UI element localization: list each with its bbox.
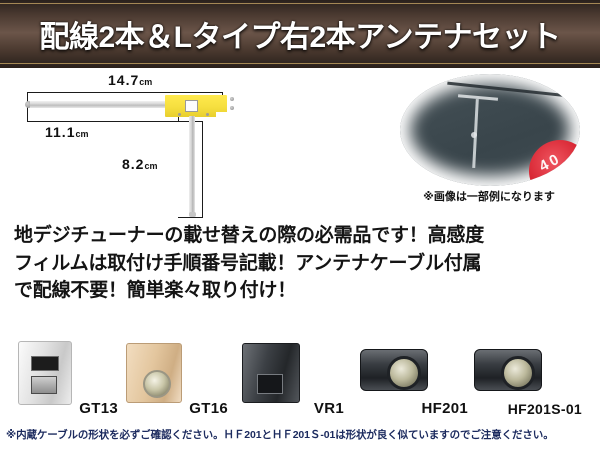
connector-photo-vr1 xyxy=(232,333,306,409)
connector-photo-hf201 xyxy=(356,333,430,409)
connector-port-lower xyxy=(31,376,57,394)
connector-photo-gt16 xyxy=(116,333,190,409)
film-pad-notch xyxy=(216,112,227,119)
connector-photo-gt13 xyxy=(6,333,80,409)
photo-caption: ※画像は一部例になります xyxy=(378,188,600,204)
dimension-unit-inner-width: cm xyxy=(75,129,88,139)
dimension-unit-height: cm xyxy=(144,161,157,171)
connector-photo-hf201s01 xyxy=(470,333,544,409)
connector-item-hf201s01: HF201S-01 xyxy=(466,333,584,421)
film-pad-pin-icon xyxy=(230,106,234,110)
description-line-3: で配線不要！簡単楽々取り付け！ xyxy=(14,277,590,305)
connector-body-gray xyxy=(18,341,72,405)
installation-photo: 40 ※画像は一部例になります xyxy=(378,68,600,218)
connector-label-vr1: VR1 xyxy=(314,400,344,417)
connector-body-tan xyxy=(126,343,182,403)
film-pad-dot-icon xyxy=(178,113,181,116)
connector-port-square xyxy=(257,374,283,394)
connector-item-gt16: GT16 xyxy=(112,333,230,421)
film-pad-pin-icon xyxy=(230,97,234,101)
header-title: 配線2本＆Lタイプ右2本アンテナセット xyxy=(0,12,600,56)
inspection-sticker-text: 40 xyxy=(536,149,564,175)
connector-label-hf201: HF201 xyxy=(421,400,468,417)
product-banner: 配線2本＆Lタイプ右2本アンテナセット 14.7cm 11.1cm 8.2cm xyxy=(0,0,600,450)
dimension-label-total-width: 14.7cm xyxy=(108,72,152,90)
connector-center-pin xyxy=(501,356,535,390)
description-line-2: フィルムは取付け手順番号記載！アンテナケーブル付属 xyxy=(14,250,590,278)
connector-body-dark xyxy=(242,343,300,403)
inspection-sticker-icon: 40 xyxy=(529,140,580,186)
banner-header: 配線2本＆Lタイプ右2本アンテナセット xyxy=(0,0,600,68)
footer-note: ※内蔵ケーブルの形状を必ずご確認ください。ＨＦ201とＨＦ201Ｓ-01は形状が… xyxy=(6,427,596,442)
connector-item-hf201: HF201 xyxy=(352,333,470,421)
film-vertical-element xyxy=(189,116,195,216)
description-line-1: 地デジチューナーの載せ替えの際の必需品です！高感度 xyxy=(14,222,590,250)
connector-item-vr1: VR1 xyxy=(228,333,346,421)
connector-center-pin xyxy=(143,370,171,398)
antenna-dimension-diagram: 14.7cm 11.1cm 8.2cm xyxy=(0,68,375,218)
connector-label-hf201s01: HF201S-01 xyxy=(508,401,582,417)
photo-oval-frame: 40 xyxy=(400,74,580,186)
connector-item-gt13: GT13 xyxy=(2,333,120,421)
connector-port-upper xyxy=(31,356,59,371)
dimension-label-height: 8.2cm xyxy=(122,156,157,174)
film-pad-dot-icon xyxy=(206,113,209,116)
connector-body-barrel xyxy=(360,349,428,391)
dimension-value-inner-width: 11.1 xyxy=(45,124,75,140)
connector-center-pin xyxy=(387,356,421,390)
product-description: 地デジチューナーの載せ替えの際の必需品です！高感度 フィルムは取付け手順番号記載… xyxy=(14,222,590,305)
connector-label-gt16: GT16 xyxy=(189,400,228,417)
dimension-value-total-width: 14.7 xyxy=(108,72,139,88)
dimension-unit-total-width: cm xyxy=(139,77,152,87)
dimension-label-inner-width: 11.1cm xyxy=(45,124,89,142)
connector-type-row: GT13 GT16 VR1 HF201 xyxy=(0,333,600,421)
connector-body-barrel xyxy=(474,349,542,391)
dimension-value-height: 8.2 xyxy=(122,156,144,172)
film-vertical-end-cap xyxy=(189,212,196,217)
